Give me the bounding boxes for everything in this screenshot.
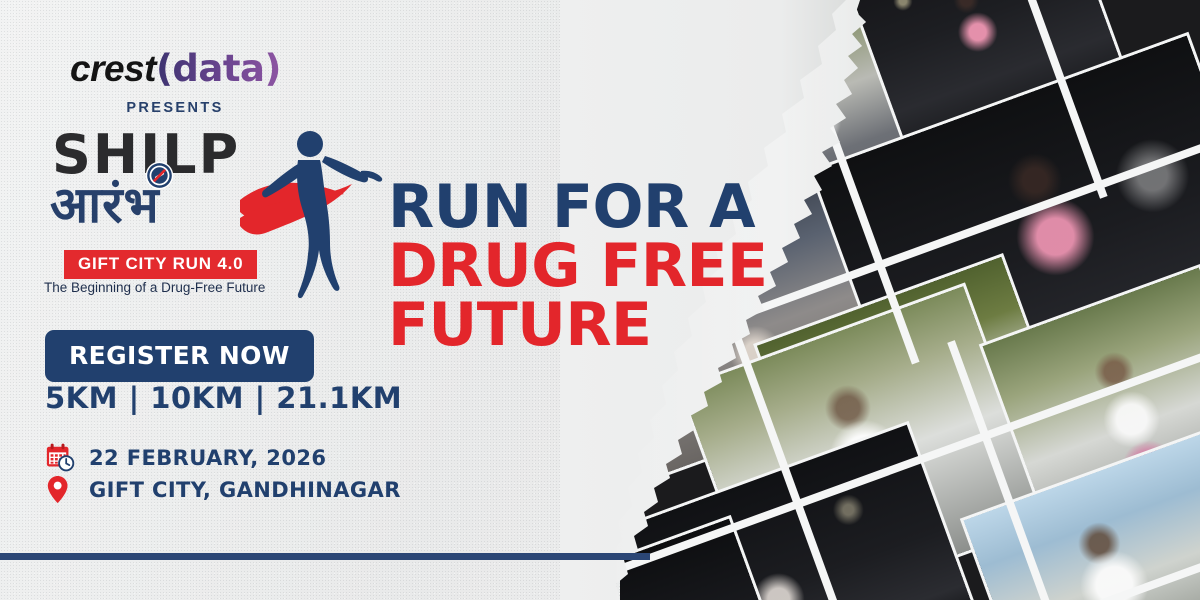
calendar-clock-icon — [45, 442, 75, 474]
event-date-text: 22 FEBRUARY, 2026 — [89, 446, 326, 470]
event-promo-banner: crest(data) PRESENTS SHILP आरंभ GIFT CIT… — [0, 0, 1200, 600]
arambh-wordmark: आरंभ — [50, 180, 160, 230]
map-pin-icon — [45, 474, 75, 506]
event-logo-lockup: SHILP आरंभ GIFT CITY RUN 4.0 The Beginni… — [44, 128, 374, 303]
event-tagline: The Beginning of a Drug-Free Future — [44, 280, 265, 295]
main-headline: RUN FOR A DRUG FREE FUTURE — [388, 178, 788, 354]
headline-line-3: FUTURE — [388, 296, 788, 355]
edition-bar: GIFT CITY RUN 4.0 — [64, 250, 257, 279]
headline-line-2: DRUG FREE — [388, 237, 788, 296]
event-location-text: GIFT CITY, GANDHINAGAR — [89, 478, 401, 502]
race-distances: 5KM | 10KM | 21.1KM — [45, 381, 402, 415]
headline-line-1: RUN FOR A — [388, 178, 788, 237]
crest-data-logo: crest(data) — [70, 47, 281, 90]
runner-silhouette-icon — [240, 122, 390, 302]
bottom-accent-rule — [0, 553, 650, 560]
data-wordmark: (data) — [156, 47, 281, 90]
register-now-button[interactable]: REGISTER NOW — [45, 330, 314, 382]
crest-wordmark: crest — [70, 48, 156, 89]
event-date-row: 22 FEBRUARY, 2026 — [45, 442, 326, 474]
event-location-row: GIFT CITY, GANDHINAGAR — [45, 474, 401, 506]
presents-label: PRESENTS — [70, 100, 280, 116]
